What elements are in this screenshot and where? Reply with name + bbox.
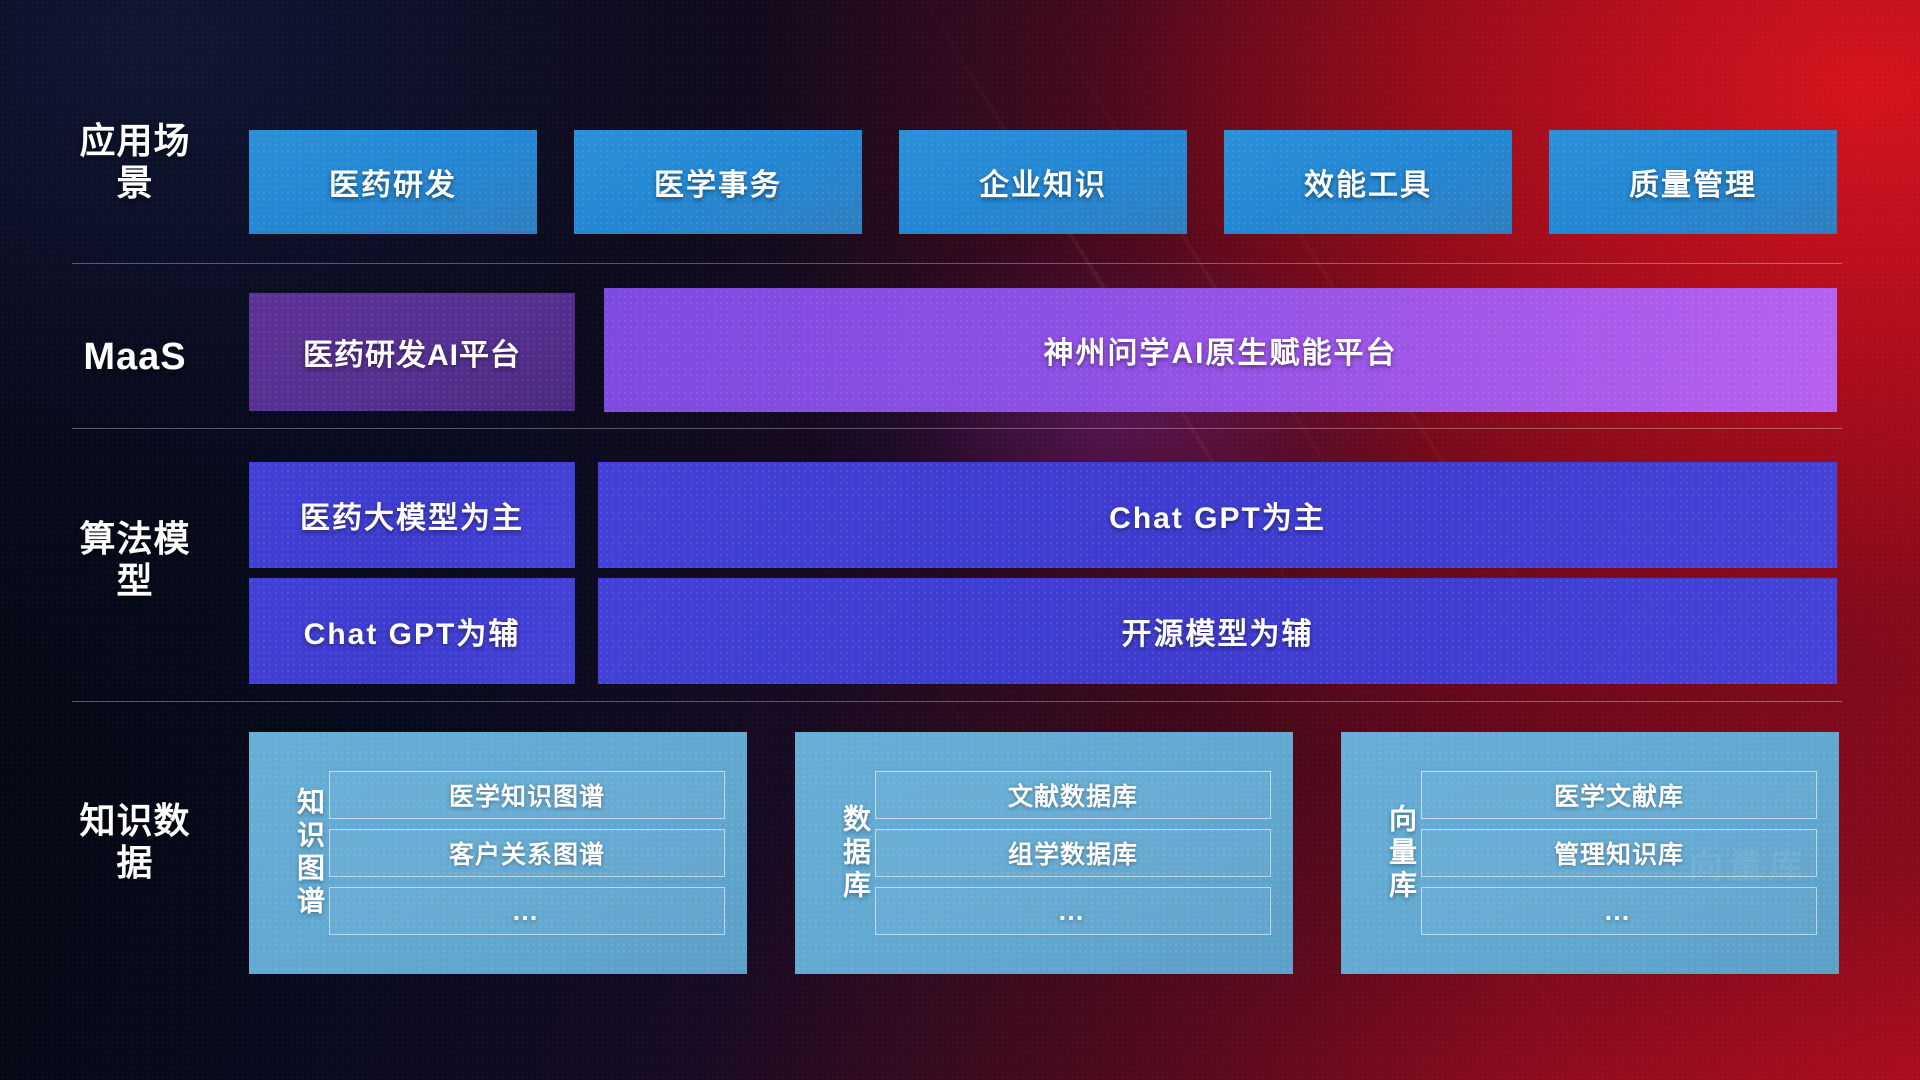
knowledge-item[interactable]: 医学知识图谱 xyxy=(329,771,725,819)
divider-algorithm-knowledge xyxy=(72,701,1842,702)
row-label-knowledge: 知识数据 xyxy=(70,800,200,885)
maas-right-label: 神州问学AI原生赋能平台 xyxy=(1044,328,1398,372)
algorithm-right-label: Chat GPT为主 xyxy=(1109,493,1326,537)
knowledge-item[interactable]: 文献数据库 xyxy=(875,771,1271,819)
application-tile-0[interactable]: 医药研发 xyxy=(249,130,537,234)
application-tile-label: 企业知识 xyxy=(979,160,1107,204)
algorithm-left-label: Chat GPT为辅 xyxy=(304,609,521,653)
architecture-diagram: 应用场景 MaaS 算法模型 知识数据 医药研发 医学事务 企业知识 效能工具 … xyxy=(0,0,1920,1080)
application-tile-2[interactable]: 企业知识 xyxy=(899,130,1187,234)
row-label-maas: MaaS xyxy=(70,335,200,380)
knowledge-group-label: 知识图谱 xyxy=(267,746,329,960)
knowledge-group-items: 文献数据库 组学数据库 … xyxy=(875,771,1271,935)
knowledge-group-items: 医学文献库 管理知识库 … xyxy=(1421,771,1817,935)
maas-tile-left[interactable]: 医药研发AI平台 xyxy=(249,293,575,411)
algorithm-tile-right-1[interactable]: 开源模型为辅 xyxy=(598,578,1837,684)
knowledge-item-more[interactable]: … xyxy=(875,887,1271,935)
knowledge-group-label: 向量库 xyxy=(1359,746,1421,960)
knowledge-item[interactable]: 医学文献库 xyxy=(1421,771,1817,819)
algorithm-tile-left-0[interactable]: 医药大模型为主 xyxy=(249,462,575,568)
application-tile-1[interactable]: 医学事务 xyxy=(574,130,862,234)
knowledge-item-more[interactable]: … xyxy=(1421,887,1817,935)
maas-left-label: 医药研发AI平台 xyxy=(303,330,521,374)
algorithm-left-label: 医药大模型为主 xyxy=(300,493,524,537)
knowledge-item-more[interactable]: … xyxy=(329,887,725,935)
application-tile-label: 医学事务 xyxy=(654,160,782,204)
application-tile-3[interactable]: 效能工具 xyxy=(1224,130,1512,234)
application-tile-4[interactable]: 质量管理 xyxy=(1549,130,1837,234)
application-tile-label: 质量管理 xyxy=(1629,160,1757,204)
application-tile-label: 医药研发 xyxy=(329,160,457,204)
knowledge-group-2[interactable]: 向量库 向量库 医学文献库 管理知识库 … xyxy=(1341,732,1839,974)
application-tile-label: 效能工具 xyxy=(1304,160,1432,204)
knowledge-group-1[interactable]: 数据库 文献数据库 组学数据库 … xyxy=(795,732,1293,974)
algorithm-tile-left-1[interactable]: Chat GPT为辅 xyxy=(249,578,575,684)
maas-tile-right[interactable]: 神州问学AI原生赋能平台 xyxy=(604,288,1837,412)
knowledge-item[interactable]: 管理知识库 xyxy=(1421,829,1817,877)
algorithm-right-label: 开源模型为辅 xyxy=(1122,609,1314,653)
knowledge-group-label: 数据库 xyxy=(813,746,875,960)
knowledge-item[interactable]: 组学数据库 xyxy=(875,829,1271,877)
knowledge-item[interactable]: 客户关系图谱 xyxy=(329,829,725,877)
divider-application-maas xyxy=(72,263,1842,264)
row-label-algorithm: 算法模型 xyxy=(70,518,200,603)
divider-maas-algorithm xyxy=(72,428,1842,429)
knowledge-group-items: 医学知识图谱 客户关系图谱 … xyxy=(329,771,725,935)
knowledge-group-0[interactable]: 知识图谱 医学知识图谱 客户关系图谱 … xyxy=(249,732,747,974)
row-label-application: 应用场景 xyxy=(70,120,200,205)
algorithm-tile-right-0[interactable]: Chat GPT为主 xyxy=(598,462,1837,568)
